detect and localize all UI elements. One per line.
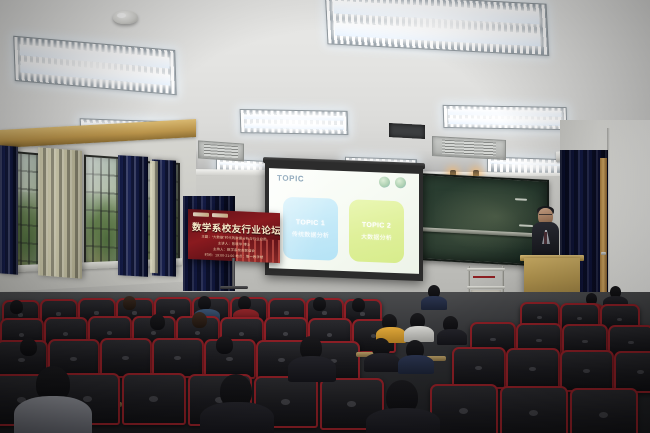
slide-topic-card-1: TOPIC 1 传统数据分析 (283, 197, 338, 261)
ceiling-light-panel (240, 109, 349, 135)
chalk-rail (419, 227, 547, 238)
audience-head (20, 338, 37, 356)
auditorium-seat (614, 351, 650, 393)
banner-logo-icon (212, 213, 228, 218)
slide-logo-right (395, 177, 406, 188)
banner-logo-icon (193, 212, 209, 217)
slide-topic-card-2: TOPIC 2 大数据分析 (349, 199, 404, 263)
banner-logo-row (193, 212, 228, 218)
audience-shoulders-foreground (366, 408, 440, 433)
door-handle-icon[interactable] (601, 252, 606, 255)
smoke-detector-icon (113, 11, 138, 24)
ceiling-light-panel (443, 105, 568, 130)
banner-stand-pole (232, 258, 235, 288)
slide-topic-1-title: TOPIC 1 (296, 219, 325, 227)
auditorium-seat (506, 348, 560, 390)
auditorium-seat (500, 386, 568, 433)
chalk-piece (519, 224, 533, 227)
auditorium-seat (122, 373, 186, 425)
projection-screen: TOPIC TOPIC 1 传统数据分析 TOPIC 2 大数据分析 (269, 168, 419, 274)
blackboard (417, 173, 549, 267)
slide-topic-2-subtitle: 大数据分析 (361, 231, 392, 241)
audience-shoulders (437, 329, 467, 345)
lecture-hall-photo: TOPIC TOPIC 1 传统数据分析 TOPIC 2 大数据分析 数学系校友… (0, 0, 650, 433)
window-curtain-navy (118, 155, 148, 277)
audience-head (192, 312, 207, 328)
audience-shoulders-foreground (200, 402, 274, 433)
audience-head (150, 314, 165, 330)
slide-logo-left (379, 176, 390, 187)
slide-topic-2-title: TOPIC 2 (362, 221, 391, 229)
auditorium-seat (100, 338, 152, 378)
audience-head (198, 296, 211, 310)
glasses-icon (539, 214, 552, 218)
audience-shoulders (421, 296, 447, 310)
audience-shoulders (398, 355, 434, 374)
window-curtain-navy (0, 145, 18, 275)
ac-vent (198, 140, 244, 161)
speaker-tie (544, 232, 547, 244)
ceiling-access-panel (389, 123, 425, 139)
ac-vent (432, 136, 506, 160)
slide-header-label: TOPIC (277, 173, 304, 183)
auditorium-seat (452, 347, 506, 389)
auditorium-seat (560, 350, 614, 392)
chalk-piece (515, 198, 527, 201)
audience-shoulders-foreground (288, 356, 336, 382)
audience-shoulders (364, 353, 400, 372)
audience-head (238, 296, 251, 310)
audience-head (123, 296, 136, 310)
cart-shelf (467, 286, 505, 289)
banner-stand-base (220, 286, 248, 289)
audience-head (216, 336, 233, 354)
cart-shelf (467, 268, 505, 271)
audience-head (313, 297, 326, 311)
audience-shoulders-foreground (14, 396, 92, 433)
window-curtain-cream (38, 147, 82, 278)
cart-cable (473, 276, 495, 278)
audience-head (352, 298, 365, 312)
auditorium-seat (152, 338, 204, 378)
window-curtain-cream (150, 161, 158, 273)
door-frame[interactable] (600, 158, 607, 310)
auditorium-seat (430, 384, 498, 433)
projection-screen-frame: TOPIC TOPIC 1 传统数据分析 TOPIC 2 大数据分析 (265, 160, 423, 281)
audience-shoulders (404, 326, 434, 342)
slide-topic-1-subtitle: 传统数据分析 (292, 229, 329, 239)
event-banner: 数学系校友行业论坛 主题：“大数据”时代的数据分析与行业应用 主讲人：陈晓华 博… (188, 209, 280, 263)
audience-head (10, 300, 23, 314)
auditorium-seat (570, 388, 638, 433)
